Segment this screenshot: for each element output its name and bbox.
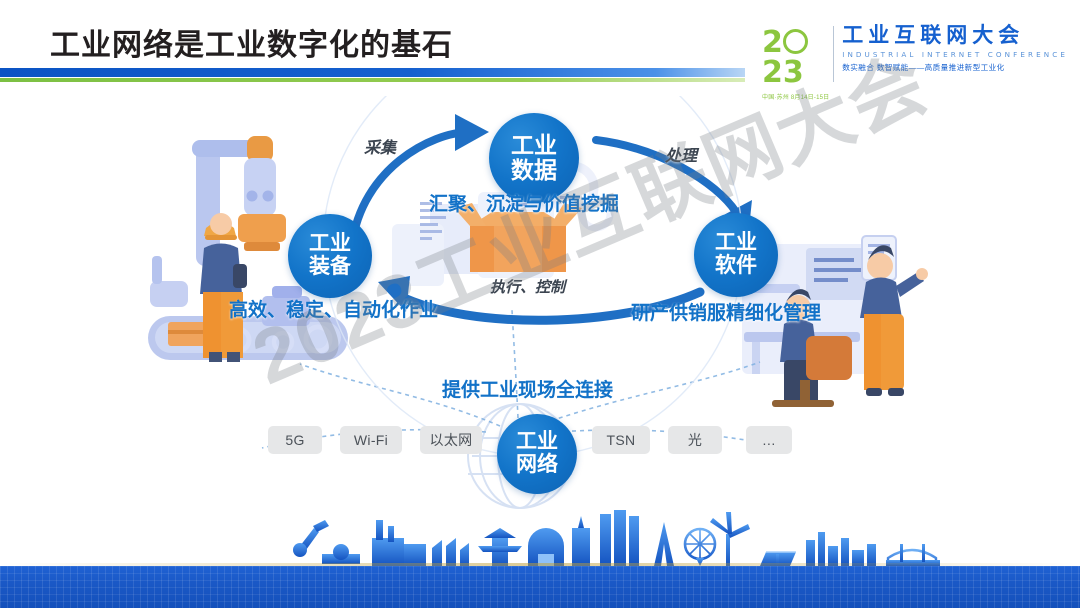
divider-green-bar (0, 78, 745, 82)
caption-equipment: 高效、稳定、自动化作业 (229, 295, 438, 322)
logo-year-ring-icon (783, 29, 808, 54)
network-tag-wifi[interactable]: Wi-Fi (340, 426, 402, 454)
network-tag-list: 5G Wi-Fi 以太网 TSN 光 … (0, 426, 1080, 460)
caption-software: 研产供销服精细化管理 (631, 298, 821, 325)
header-divider (0, 68, 745, 84)
node-data-line2: 数据 (511, 158, 557, 183)
flow-label-execute: 执行、控制 (490, 276, 565, 297)
logo-year: 223 (762, 28, 833, 88)
node-industrial-software[interactable]: 工业 软件 (694, 213, 778, 297)
network-tag-optical[interactable]: 光 (668, 426, 722, 454)
node-soft-line2: 软件 (715, 255, 757, 278)
network-tag-ethernet[interactable]: 以太网 (420, 426, 482, 454)
logo-chinese-name: 工业互联网大会 (842, 25, 1068, 47)
node-equip-line1: 工业 (309, 233, 351, 256)
logo-year-block: 223 中国·苏州 8月14日-15日 (762, 24, 833, 101)
node-soft-line1: 工业 (715, 232, 757, 255)
slide-header: 工业网络是工业数字化的基石 223 中国·苏州 8月14日-15日 工业互联网大… (0, 0, 1080, 96)
logo-text-block: 工业互联网大会 INDUSTRIAL INTERNET CONFERENCE 数… (842, 24, 1068, 73)
caption-network: 提供工业现场全连接 (442, 375, 613, 402)
slide-footer (0, 516, 1080, 608)
page-title: 工业网络是工业数字化的基石 (50, 20, 453, 64)
network-tag-tsn[interactable]: TSN (592, 426, 650, 454)
divider-blue-bar (0, 68, 745, 77)
node-data-line1: 工业 (511, 133, 557, 158)
slide-canvas: 工业网络是工业数字化的基石 223 中国·苏州 8月14日-15日 工业互联网大… (0, 0, 1080, 608)
node-equip-line2: 装备 (309, 256, 351, 279)
flow-label-process: 处理 (665, 142, 697, 166)
footer-blue-band (0, 566, 1080, 608)
conference-logo: 223 中国·苏州 8月14日-15日 工业互联网大会 INDUSTRIAL I… (762, 24, 1068, 86)
logo-separator (833, 26, 834, 82)
city-skyline-graphic (0, 510, 1080, 566)
flow-label-collect: 采集 (364, 134, 396, 158)
logo-slogan: 数实融合 数智赋能——高质量推进新型工业化 (842, 62, 1068, 73)
network-tag-more[interactable]: … (746, 426, 792, 454)
diagram-stage: 工业 数据 工业 装备 工业 软件 工业 网络 采集 处理 执行、控制 汇聚、沉… (0, 96, 1080, 526)
caption-aggregate: 汇聚、沉淀与价值挖掘 (429, 189, 619, 216)
logo-english-name: INDUSTRIAL INTERNET CONFERENCE (842, 50, 1068, 59)
network-tag-5g[interactable]: 5G (268, 426, 322, 454)
node-industrial-equipment[interactable]: 工业 装备 (288, 214, 372, 298)
